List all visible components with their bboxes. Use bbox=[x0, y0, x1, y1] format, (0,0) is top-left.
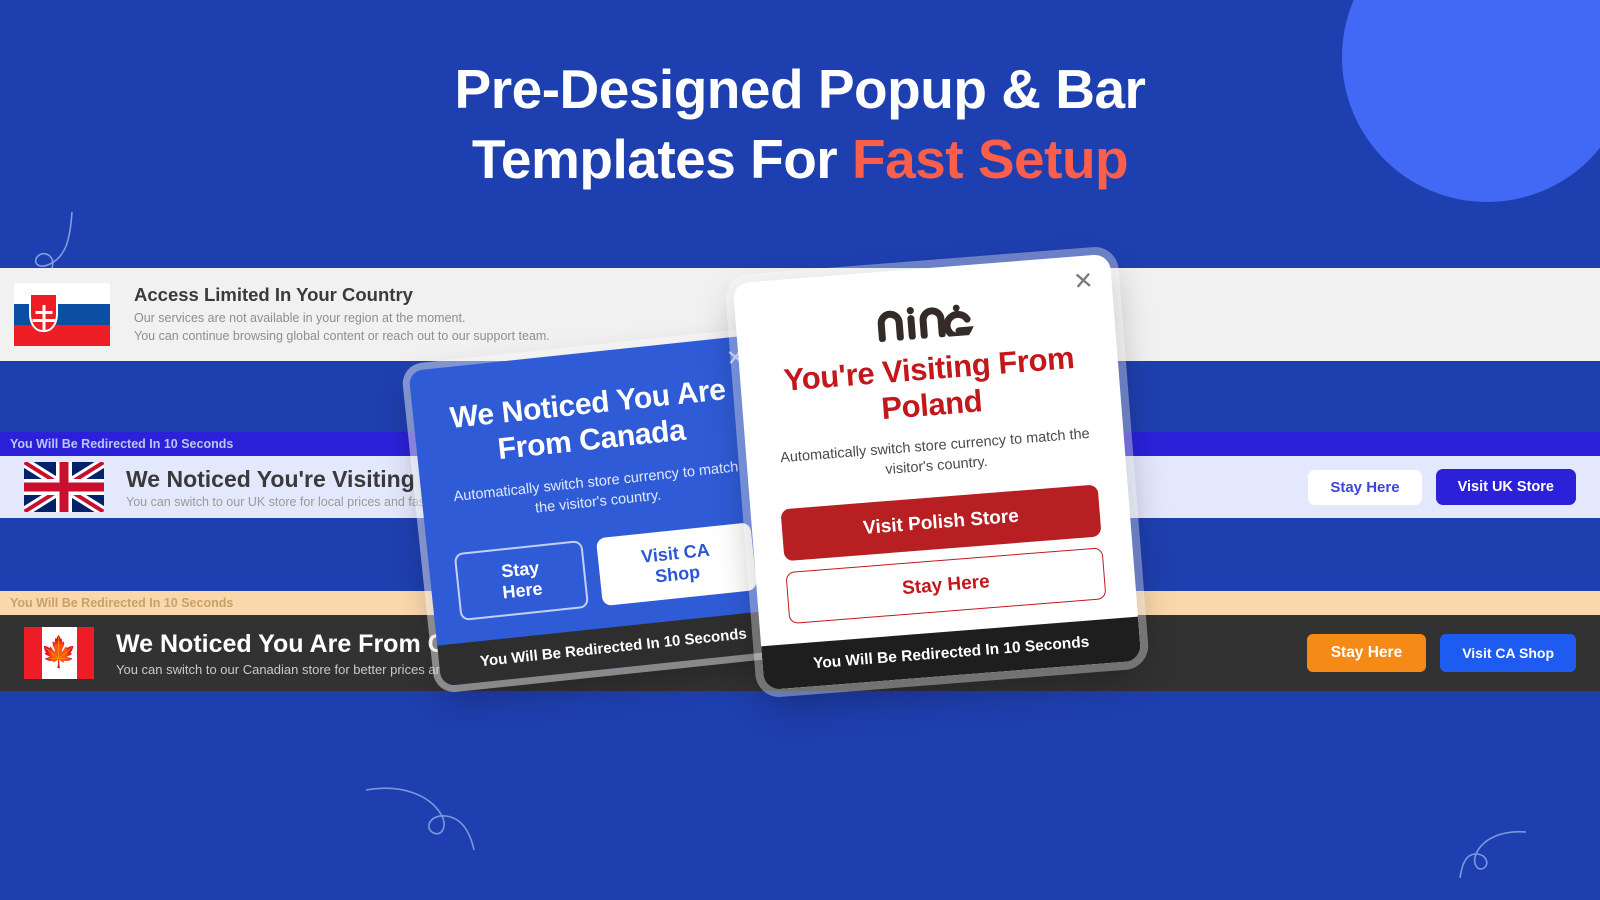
hero-heading: Pre-Designed Popup & Bar Templates For F… bbox=[0, 54, 1600, 195]
canada-stay-here-button[interactable]: Stay Here bbox=[1307, 634, 1427, 672]
decorative-swirl-bottom-right bbox=[1428, 802, 1538, 882]
popup-canada-title: We Noticed You Are From Canada bbox=[438, 371, 742, 474]
popup-canada-visit-button[interactable]: Visit CA Shop bbox=[596, 522, 757, 606]
canada-flag: 🍁 bbox=[24, 627, 94, 679]
uk-stay-here-button[interactable]: Stay Here bbox=[1308, 470, 1421, 505]
headline-line-1: Pre-Designed Popup & Bar bbox=[455, 58, 1146, 120]
close-icon[interactable]: ✕ bbox=[1073, 269, 1095, 295]
canada-visit-shop-button[interactable]: Visit CA Shop bbox=[1440, 634, 1576, 672]
uk-visit-store-button[interactable]: Visit UK Store bbox=[1436, 469, 1576, 505]
popup-poland-visit-button[interactable]: Visit Polish Store bbox=[780, 484, 1101, 561]
decorative-swirl-bottom-left bbox=[358, 758, 488, 853]
headline-line-2-prefix: Templates For bbox=[472, 128, 852, 190]
canada-bar-subtitle: You can switch to our Canadian store for… bbox=[116, 662, 1307, 677]
popup-poland-title: You're Visiting From Poland bbox=[769, 339, 1092, 436]
popup-poland-body: Automatically switch store currency to m… bbox=[776, 424, 1096, 489]
popup-canada-stay-button[interactable]: Stay Here bbox=[454, 540, 589, 621]
united-kingdom-flag bbox=[24, 462, 104, 512]
popup-canada[interactable]: ✕ We Noticed You Are From Canada Automat… bbox=[408, 335, 789, 687]
headline-accent: Fast Setup bbox=[852, 128, 1128, 190]
slovakia-flag bbox=[14, 283, 110, 347]
popup-poland[interactable]: ✕ You're Visiting From Poland Automatica… bbox=[733, 254, 1142, 690]
popup-poland-stay-button[interactable]: Stay Here bbox=[785, 547, 1106, 624]
